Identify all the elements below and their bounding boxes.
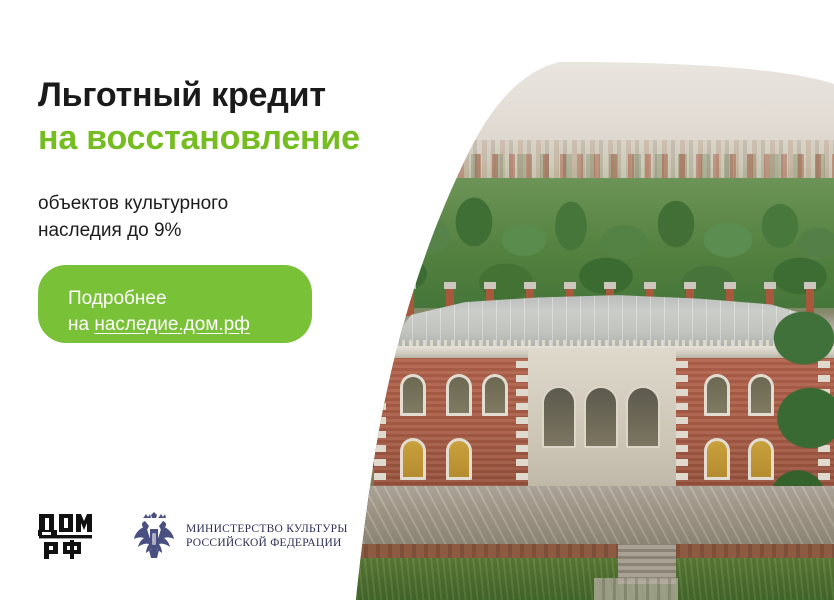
facade-window bbox=[482, 374, 508, 416]
logo-row: Министерство культуры Российской Федерац… bbox=[38, 510, 348, 562]
details-button-label: Подробнее bbox=[68, 288, 167, 309]
ministry-of-culture-logo: Министерство культуры Российской Федерац… bbox=[132, 512, 348, 560]
facade-window bbox=[446, 374, 472, 416]
facade-window-lower bbox=[704, 438, 730, 480]
subtitle: объектов культурного наследия до 9% bbox=[38, 160, 318, 244]
ministry-line-2: Российской Федерации bbox=[186, 536, 348, 550]
facade-window-lower bbox=[400, 438, 426, 480]
facade-quoin-mid-left bbox=[516, 358, 528, 494]
facade-window bbox=[704, 374, 730, 416]
ministry-line-1: Министерство культуры bbox=[186, 522, 348, 536]
ministry-of-culture-text: Министерство культуры Российской Федерац… bbox=[186, 522, 348, 550]
pavilion-arch-window bbox=[584, 386, 618, 448]
details-button-text: Подробнее на наследие.дом.рф bbox=[38, 271, 312, 338]
promo-banner: Льготный кредит на восстановление объект… bbox=[0, 0, 834, 600]
details-button-prefix: на bbox=[68, 314, 94, 335]
subtitle-line-1: объектов культурного bbox=[38, 193, 228, 214]
photo-scene bbox=[356, 58, 834, 600]
details-button-line-2: на наследие.дом.рф bbox=[68, 312, 312, 338]
subtitle-line-2: наследия до 9% bbox=[38, 220, 181, 241]
center-pavilion bbox=[528, 350, 676, 498]
facade-quoin-mid-right bbox=[676, 358, 688, 494]
pavilion-arch-window bbox=[542, 386, 576, 448]
facade-window-lower bbox=[446, 438, 472, 480]
heritage-site-link[interactable]: наследие.дом.рф bbox=[94, 314, 250, 335]
terrace-texture bbox=[356, 486, 834, 550]
double-headed-eagle-icon bbox=[132, 512, 176, 560]
details-button[interactable]: Подробнее на наследие.дом.рф bbox=[38, 265, 312, 343]
page-title: Льготный кредит на восстановление bbox=[38, 0, 378, 160]
headline-line-1: Льготный кредит bbox=[38, 76, 326, 114]
facade-window bbox=[400, 374, 426, 416]
domrf-logo bbox=[38, 510, 94, 562]
garden-path bbox=[594, 578, 678, 600]
pavilion-arch-window bbox=[626, 386, 660, 448]
headline-line-2: на восстановление bbox=[38, 117, 378, 160]
